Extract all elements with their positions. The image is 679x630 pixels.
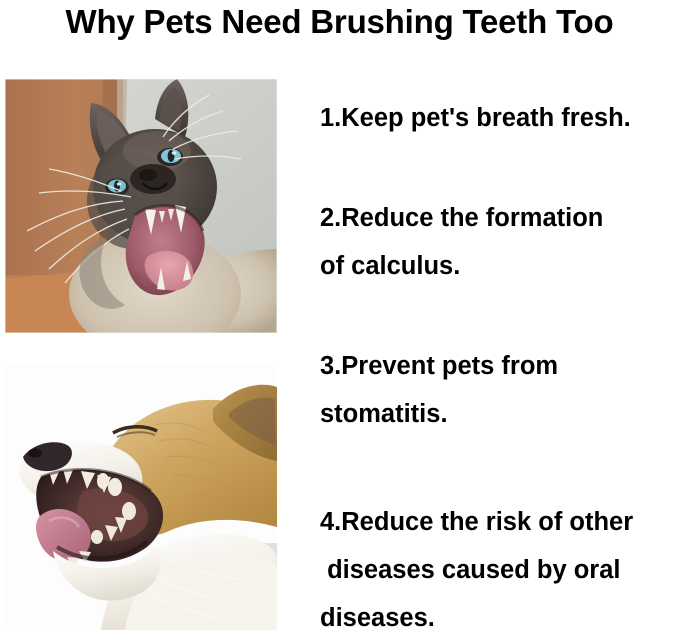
benefit-2-line-1: 2.Reduce the formation (320, 194, 679, 242)
benefit-4-line-1: 4.Reduce the risk of other (320, 498, 679, 546)
benefit-4-line-3: diseases. (320, 594, 679, 630)
cat-photo (5, 79, 277, 333)
infographic-page: Why Pets Need Brushing Teeth Too (0, 0, 679, 630)
benefit-4-line-2: diseases caused by oral (320, 546, 679, 594)
benefit-3-line-2: stomatitis. (320, 390, 679, 438)
list-item: 2.Reduce the formation of calculus. (320, 194, 679, 290)
benefit-list: 1.Keep pet's breath fresh. 2.Reduce the … (320, 88, 679, 630)
page-title: Why Pets Need Brushing Teeth Too (0, 0, 679, 56)
cat-photo-illustration (5, 79, 277, 333)
list-item: 3.Prevent pets from stomatitis. (320, 342, 679, 438)
benefit-1-line-1: 1.Keep pet's breath fresh. (320, 94, 679, 142)
list-item: 1.Keep pet's breath fresh. (320, 94, 679, 142)
list-item: 4.Reduce the risk of other diseases caus… (320, 498, 679, 630)
benefit-2-line-2: of calculus. (320, 242, 679, 290)
dog-photo-illustration (5, 365, 277, 630)
dog-photo (5, 365, 277, 630)
benefit-3-line-1: 3.Prevent pets from (320, 342, 679, 390)
